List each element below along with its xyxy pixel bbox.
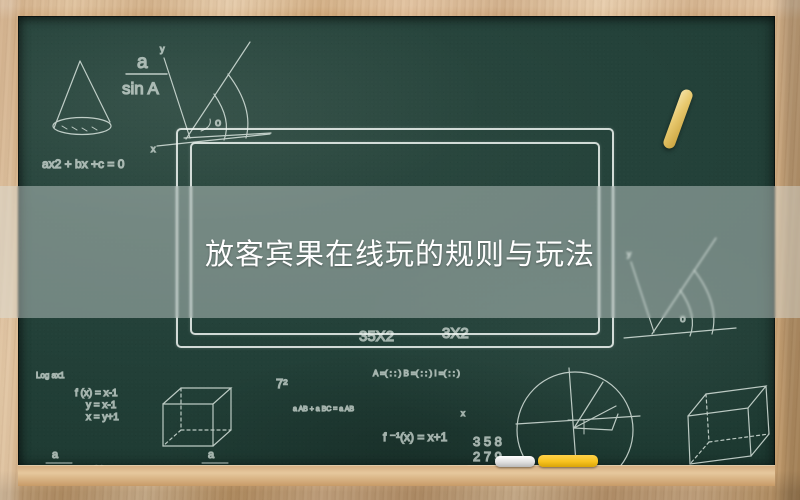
chalk-ledge xyxy=(18,466,775,486)
white-chalk xyxy=(495,456,535,467)
chalkboard-banner-image: a sin A y x o ax2 + bx +c = 0 y xyxy=(0,0,800,500)
chalk-frac2-a: a xyxy=(52,449,59,461)
chalk-circle-diagram xyxy=(516,368,640,468)
chalk-fraction-sina-top: sin A xyxy=(122,79,160,98)
chalk-axis-y-top: y xyxy=(160,44,165,54)
chalk-quadratic-equation: ax2 + bx +c = 0 xyxy=(42,157,125,171)
chalk-matrix-row: A =( : : ) B =( : : ) I =( : : ) xyxy=(373,369,460,378)
chalk-axis-x-top: x xyxy=(151,144,156,154)
chalk-log-label: Log ax1 xyxy=(36,371,65,380)
chalk-inverse-function: f ⁻¹(x) = x+1 xyxy=(383,430,448,444)
chalk-cube-right xyxy=(688,386,769,464)
chalk-digits-row1: 3 5 8 xyxy=(473,434,502,449)
chalk-fx-line-1: f (x) = x-1 xyxy=(75,388,118,399)
chalk-frac3-a: a xyxy=(208,449,215,461)
yellow-chalk xyxy=(538,455,598,467)
chalk-seven-squared: 7² xyxy=(276,376,288,391)
chalk-fx-line-2: y = x-1 xyxy=(86,400,117,411)
chalk-vector-expr: a AB + a BC = a AB xyxy=(293,406,354,413)
page-title: 放客宾果在线玩的规则与玩法 xyxy=(0,186,800,318)
chalk-axis-x-mid: x xyxy=(461,409,465,418)
chalk-fraction-a-top: a xyxy=(137,52,148,73)
chalk-fx-line-3: x = y+1 xyxy=(86,412,119,423)
chalk-cube-left xyxy=(163,388,231,446)
